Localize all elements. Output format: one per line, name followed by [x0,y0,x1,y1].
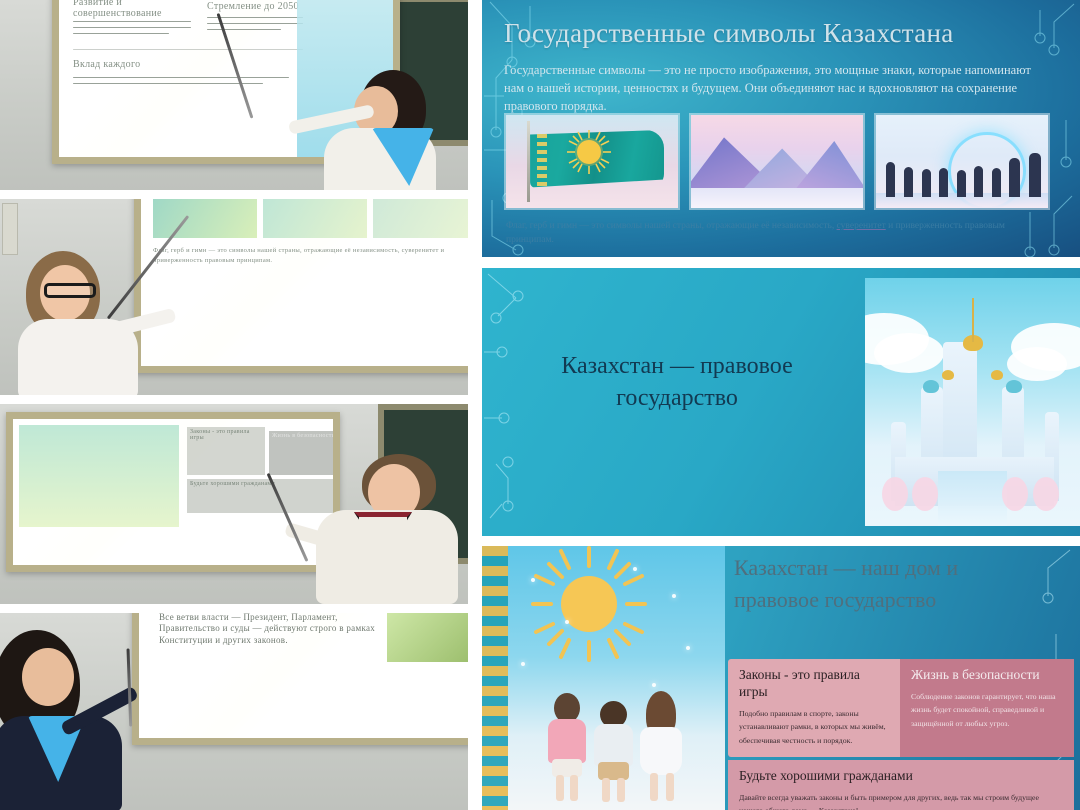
photo-student-3: Законы - это правила игры Жизнь в безопа… [0,404,468,604]
proj2-body: Флаг, герб и гимн — это символы нашей ст… [153,246,453,267]
slide-state-symbols[interactable]: Государственные символы Казахстана Госуд… [482,0,1080,257]
spire [972,298,974,343]
slide3-card-group: Законы - это правила игры Подобно правил… [728,659,1074,810]
slide1-caption: Флаг, герб и гимн — это символы нашей ст… [506,219,1026,248]
projected-slide-2: Флаг, герб и гимн — это символы нашей ст… [141,199,468,366]
slide1-image-row [504,113,1050,210]
card-safety[interactable]: Жизнь в безопасности Соблюдение законов … [900,659,1074,757]
projection-screen-frame-4: Все ветви власти — Президент, Парламент,… [132,613,468,745]
slide1-body: Государственные символы — это не просто … [504,61,1049,115]
student-3-figure [298,454,458,604]
slide3-title: Казахстан — наш дом и правовое государст… [734,552,1070,616]
card-safety-title: Жизнь в безопасности [911,667,1063,684]
collage-page: Развитие и совершенствование Стремление … [0,0,1080,810]
slide3-title-line2: правовое государство [734,587,936,612]
card-laws-rules-title: Законы - это правила игры [739,667,889,701]
proj1-heading-left: Развитие и совершенствование [73,0,193,19]
slide3-title-line1: Казахстан — наш дом и [734,555,958,580]
wall-ruler [2,203,18,255]
kazakhstan-flag-image [504,113,680,210]
child-right [638,691,686,805]
photo-student-4: Все ветви власти — Президент, Парламент,… [0,613,468,810]
slide3-card-row: Законы - это правила игры Подобно правил… [728,659,1074,757]
projection-screen-frame-3: Законы - это правила игры Жизнь в безопа… [6,412,340,572]
slide2-title-line1: Казахстан — правовое [561,353,793,379]
people-silhouettes-image [874,113,1050,210]
card-safety-text: Соблюдение законов гарантирует, что наша… [911,690,1063,730]
photo-student-2: Флаг, герб и гимн — это символы нашей ст… [0,199,468,395]
card-good-citizens[interactable]: Будьте хорошими гражданами Давайте всегд… [728,760,1074,810]
card-laws-rules[interactable]: Законы - это правила игры Подобно правил… [728,659,900,757]
eyeglasses [44,283,96,298]
proj1-heading-bottom: Вклад каждого [73,59,193,70]
projected-slide-4: Все ветви власти — Президент, Парламент,… [139,613,468,738]
projection-screen-frame-2: Флаг, герб и гимн — это символы нашей ст… [134,199,468,373]
proj4-bullet: Все ветви власти — Президент, Парламент,… [159,613,385,646]
proj3-card-1: Законы - это правила игры [187,427,265,475]
slide2-title: Казахстан — правовое государство [522,350,832,415]
photo-student-1: Развитие и совершенствование Стремление … [0,0,468,190]
student-1-figure [292,70,442,190]
projected-slide-3: Законы - это правила игры Жизнь в безопа… [13,419,333,565]
sun-disc [561,576,617,632]
proj4-thumb [387,613,468,662]
photo-column: Развитие и совершенствование Стремление … [0,0,468,810]
children-sun-image [482,546,725,810]
slide-our-home[interactable]: Казахстан — наш дом и правовое государст… [482,546,1080,810]
proj3-kids-image [19,425,179,527]
mountains-image [689,113,865,210]
slide1-caption-part1: Флаг, герб и гимн — это символы нашей ст… [506,221,837,231]
slide-column: Государственные символы Казахстана Госуд… [482,0,1080,810]
kazakh-ornament-border [482,546,508,810]
card-good-citizens-title: Будьте хорошими гражданами [739,768,1063,785]
card-good-citizens-text: Давайте всегда уважать законы и быть при… [739,791,1063,810]
slide2-text-area: Казахстан — правовое государство [482,268,864,536]
card-laws-rules-text: Подобно правилам в спорте, законы устана… [739,707,889,747]
palace-image [865,278,1080,526]
child-middle [591,701,637,805]
slide2-title-line2: государство [616,385,738,411]
child-left [545,693,591,805]
slide1-title: Государственные символы Казахстана [504,18,954,49]
slide1-caption-underlined: суверенитет [837,221,886,231]
slide-legal-state[interactable]: Казахстан — правовое государство [482,268,1080,536]
